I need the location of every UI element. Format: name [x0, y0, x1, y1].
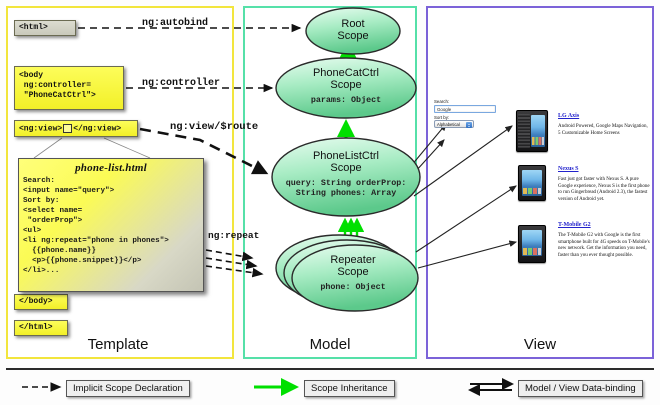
caption-ng-view-route: ng:view/$route: [170, 121, 258, 133]
legend: Implicit Scope Declaration Scope Inherit…: [0, 368, 660, 405]
phone-list-card-code: Search: <input name="query"> Sort by: <s…: [19, 176, 203, 276]
panel-view-label: View: [428, 336, 652, 353]
phone-screen-3: [522, 230, 543, 257]
sort-select[interactable]: Alphabetical: [434, 120, 474, 128]
legend-dashed-arrow-icon: [20, 378, 130, 396]
scope-phonecatctrl: PhoneCatCtrl Scope params: Object: [276, 58, 416, 118]
legend-bidirectional-arrow-icon: [468, 378, 578, 396]
phone-snippet-3: The T-Mobile G2 with Google is the first…: [558, 233, 650, 260]
code-box-close-body: </body>: [14, 294, 68, 310]
caption-ng-repeat: ng:repeat: [208, 230, 259, 241]
scope-phonelistctrl-line2: Scope: [330, 162, 361, 174]
phone-name-2[interactable]: Nexus S: [558, 166, 579, 172]
caption-ng-autobind: ng:autobind: [142, 18, 208, 29]
scope-repeater: Repeater Scope phone: Object: [286, 240, 420, 312]
phone-thumbnail-1: [516, 110, 548, 152]
phone-list-html-card: phone-list.html Search: <input name="que…: [18, 158, 204, 292]
scope-phonecatctrl-props: params: Object: [276, 95, 416, 105]
code-box-ngview: <ng:view></ng:view>: [14, 120, 138, 137]
scope-phonelistctrl-props: query: String orderProp: String phones: …: [272, 178, 420, 199]
code-box-close-html: </html>: [14, 320, 68, 336]
ngview-placeholder-square: [63, 124, 72, 133]
phone-list-card-title: phone-list.html: [19, 159, 203, 176]
chevron-updown-icon: [466, 122, 472, 128]
legend-item-binding: Model / View Data-binding: [468, 378, 643, 396]
ngview-close-tag: </ng:view>: [73, 125, 121, 134]
legend-green-arrow-icon: [252, 378, 362, 396]
phone-name-1[interactable]: LG Axis: [558, 113, 579, 119]
scope-phonecatctrl-line1: PhoneCatCtrl: [313, 67, 379, 79]
sort-select-value: Alphabetical: [437, 122, 460, 127]
search-label: Search:: [434, 99, 500, 105]
phone-thumbnail-2: [518, 165, 546, 201]
scope-phonecatctrl-line2: Scope: [330, 79, 361, 91]
scope-repeater-line1: Repeater: [330, 254, 375, 266]
phone-name-3[interactable]: T-Mobile G2: [558, 222, 591, 228]
phone-screen-1: [531, 115, 544, 147]
phone-snippet-2: Fast just got faster with Nexus S. A pur…: [558, 177, 650, 204]
legend-item-implicit: Implicit Scope Declaration: [20, 378, 190, 396]
search-widget: Search: Google Sort by: Alphabetical: [434, 99, 500, 128]
panel-model-label: Model: [245, 336, 415, 353]
scope-root-line2: Scope: [337, 30, 368, 42]
legend-item-inheritance: Scope Inheritance: [252, 378, 395, 396]
scope-root: Root Scope: [306, 8, 400, 54]
code-box-body-tag: <body ng:controller= "PhoneCatCtrl">: [14, 66, 124, 110]
ngview-open-tag: <ng:view>: [19, 125, 62, 134]
scope-root-line1: Root: [341, 18, 364, 30]
scope-phonelistctrl-line1: PhoneListCtrl: [313, 150, 379, 162]
code-box-html-tag: <html>: [14, 20, 76, 36]
phone-keyboard-1: [518, 114, 530, 148]
legend-divider: [6, 368, 654, 370]
phone-thumbnail-3: [518, 225, 546, 263]
panel-template-label: Template: [28, 336, 208, 353]
phone-snippet-1: Android Powered, Google Maps Navigation,…: [558, 124, 650, 137]
caption-ng-controller: ng:controller: [142, 78, 220, 89]
scope-repeater-props: phone: Object: [286, 282, 420, 292]
scope-phonelistctrl: PhoneListCtrl Scope query: String orderP…: [272, 138, 420, 216]
phone-screen-2: [522, 170, 543, 196]
diagram-canvas: Template Model View: [0, 0, 660, 405]
search-input[interactable]: Google: [434, 105, 496, 113]
scope-repeater-line2: Scope: [337, 266, 368, 278]
